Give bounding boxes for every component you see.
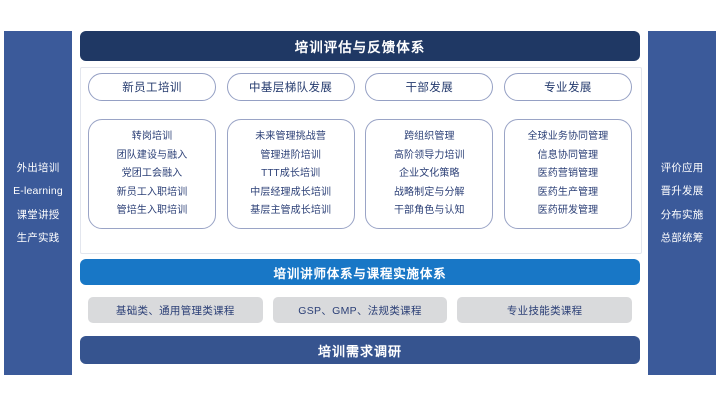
- right-rail: 评价应用 晋升发展 分布实施 总部统筹: [648, 31, 716, 375]
- center-column: 培训评估与反馈体系 新员工培训 转岗培训 团队建设与融入 党团工会融入 新员工入…: [80, 31, 640, 375]
- list-item: 中层经理成长培训: [250, 185, 331, 201]
- training-system-diagram: 外出培训 E-learning 课堂讲授 生产实践 评价应用 晋升发展 分布实施…: [0, 0, 720, 405]
- list-item: 管理进阶培训: [260, 148, 321, 164]
- list-item: TTT成长培训: [261, 166, 320, 182]
- list-item: 医药研发管理: [538, 203, 599, 219]
- category-items-2: 跨组织管理 高阶领导力培训 企业文化策略 战略制定与分解 干部角色与认知: [365, 119, 493, 229]
- list-item: 战略制定与分解: [394, 185, 465, 201]
- left-rail-item-3: 生产实践: [17, 233, 60, 244]
- list-item: 基层主管成长培训: [250, 203, 331, 219]
- list-item: 医药营销管理: [538, 166, 599, 182]
- course-tag-row: 基础类、通用管理类课程 GSP、GMP、法规类课程 专业技能类课程: [88, 297, 632, 323]
- left-rail-item-0: 外出培训: [17, 163, 60, 174]
- category-header-1: 中基层梯队发展: [227, 73, 355, 101]
- mid-banner: 培训讲师体系与课程实施体系: [80, 259, 640, 285]
- list-item: 信息协同管理: [538, 148, 599, 164]
- list-item: 企业文化策略: [399, 166, 460, 182]
- right-rail-item-3: 总部统筹: [661, 233, 704, 244]
- left-rail-item-2: 课堂讲授: [17, 210, 60, 221]
- category-columns: 新员工培训 转岗培训 团队建设与融入 党团工会融入 新员工入职培训 管培生入职培…: [88, 73, 632, 229]
- category-column-1: 中基层梯队发展 未来管理挑战营 管理进阶培训 TTT成长培训 中层经理成长培训 …: [227, 73, 355, 229]
- left-rail-item-1: E-learning: [13, 186, 63, 197]
- course-tag-0: 基础类、通用管理类课程: [88, 297, 263, 323]
- right-rail-item-0: 评价应用: [661, 163, 704, 174]
- category-header-3: 专业发展: [504, 73, 632, 101]
- left-rail: 外出培训 E-learning 课堂讲授 生产实践: [4, 31, 72, 375]
- list-item: 转岗培训: [132, 129, 172, 145]
- list-item: 医药生产管理: [538, 185, 599, 201]
- list-item: 新员工入职培训: [117, 185, 188, 201]
- list-item: 管培生入职培训: [117, 203, 188, 219]
- list-item: 党团工会融入: [122, 166, 183, 182]
- list-item: 跨组织管理: [404, 129, 455, 145]
- category-header-0: 新员工培训: [88, 73, 216, 101]
- category-items-1: 未来管理挑战营 管理进阶培训 TTT成长培训 中层经理成长培训 基层主管成长培训: [227, 119, 355, 229]
- right-rail-item-1: 晋升发展: [661, 186, 704, 197]
- list-item: 团队建设与融入: [117, 148, 188, 164]
- category-header-2: 干部发展: [365, 73, 493, 101]
- list-item: 全球业务协同管理: [528, 129, 609, 145]
- list-item: 高阶领导力培训: [394, 148, 465, 164]
- category-items-3: 全球业务协同管理 信息协同管理 医药营销管理 医药生产管理 医药研发管理: [504, 119, 632, 229]
- list-item: 干部角色与认知: [394, 203, 465, 219]
- category-column-0: 新员工培训 转岗培训 团队建设与融入 党团工会融入 新员工入职培训 管培生入职培…: [88, 73, 216, 229]
- top-banner: 培训评估与反馈体系: [80, 31, 640, 61]
- course-tag-1: GSP、GMP、法规类课程: [273, 297, 448, 323]
- course-tag-2: 专业技能类课程: [457, 297, 632, 323]
- category-items-0: 转岗培训 团队建设与融入 党团工会融入 新员工入职培训 管培生入职培训: [88, 119, 216, 229]
- right-rail-item-2: 分布实施: [661, 210, 704, 221]
- category-column-2: 干部发展 跨组织管理 高阶领导力培训 企业文化策略 战略制定与分解 干部角色与认…: [365, 73, 493, 229]
- bottom-banner: 培训需求调研: [80, 336, 640, 364]
- category-column-3: 专业发展 全球业务协同管理 信息协同管理 医药营销管理 医药生产管理 医药研发管…: [504, 73, 632, 229]
- list-item: 未来管理挑战营: [255, 129, 326, 145]
